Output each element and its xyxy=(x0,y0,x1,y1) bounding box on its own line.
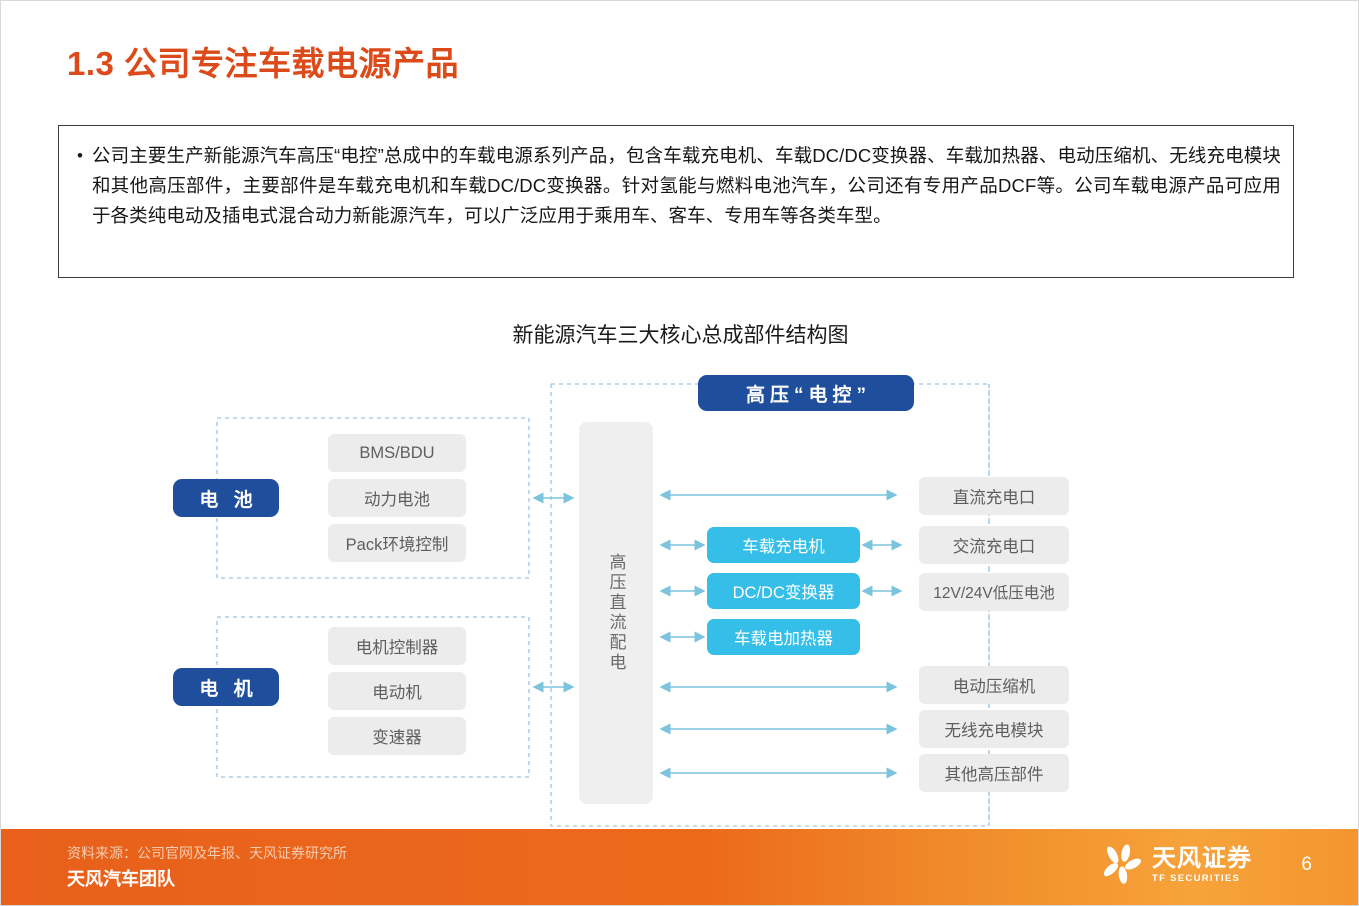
right-item-other-hv-parts: 其他高压部件 xyxy=(919,754,1069,792)
battery-item-bms: BMS/BDU xyxy=(328,434,466,472)
diagram-title: 新能源汽车三大核心总成部件结构图 xyxy=(1,319,1359,349)
logo-text: 天风证券 TF SECURITIES xyxy=(1152,846,1252,884)
product-onboard-charger: 车载充电机 xyxy=(707,527,860,563)
footer-team-name: 天风汽车团队 xyxy=(67,865,175,891)
company-logo: 天风证券 TF SECURITIES xyxy=(1099,842,1252,888)
slide-root: 1.3 公司专注车载电源产品 • 公司主要生产新能源汽车高压“电控”总成中的车载… xyxy=(0,0,1359,906)
hv-dc-distribution-bar: 高压直流配电 xyxy=(579,422,653,804)
footer-bar: 资料来源：公司官网及年报、天风证券研究所 天风汽车团队 天风证券 TF SECU… xyxy=(1,829,1359,905)
motor-item-gearbox: 变速器 xyxy=(328,717,466,755)
diagram-connectors xyxy=(1,1,1359,906)
diagram-area: 新能源汽车三大核心总成部件结构图 xyxy=(1,1,1359,906)
product-dcdc-converter: DC/DC变换器 xyxy=(707,573,860,609)
right-item-dc-charge-port: 直流充电口 xyxy=(919,477,1069,515)
right-item-e-compressor: 电动压缩机 xyxy=(919,666,1069,704)
battery-item-pack-thermal: Pack环境控制 xyxy=(328,524,466,562)
page-number: 6 xyxy=(1301,854,1312,876)
tf-securities-logo-icon xyxy=(1099,842,1145,888)
right-item-lv-battery: 12V/24V低压电池 xyxy=(919,573,1069,611)
product-ptc-heater: 车载电加热器 xyxy=(707,619,860,655)
logo-chinese-name: 天风证券 xyxy=(1152,846,1252,871)
hv-control-badge: 高压“电控” xyxy=(698,375,914,411)
right-item-wireless-charging: 无线充电模块 xyxy=(919,710,1069,748)
motor-item-controller: 电机控制器 xyxy=(328,627,466,665)
battery-item-power-battery: 动力电池 xyxy=(328,479,466,517)
battery-group-label: 电 池 xyxy=(173,479,279,517)
motor-item-motor: 电动机 xyxy=(328,672,466,710)
right-item-ac-charge-port: 交流充电口 xyxy=(919,526,1069,564)
footer-source-text: 资料来源：公司官网及年报、天风证券研究所 xyxy=(67,843,347,863)
motor-group-label: 电 机 xyxy=(173,668,279,706)
logo-english-name: TF SECURITIES xyxy=(1152,873,1252,884)
